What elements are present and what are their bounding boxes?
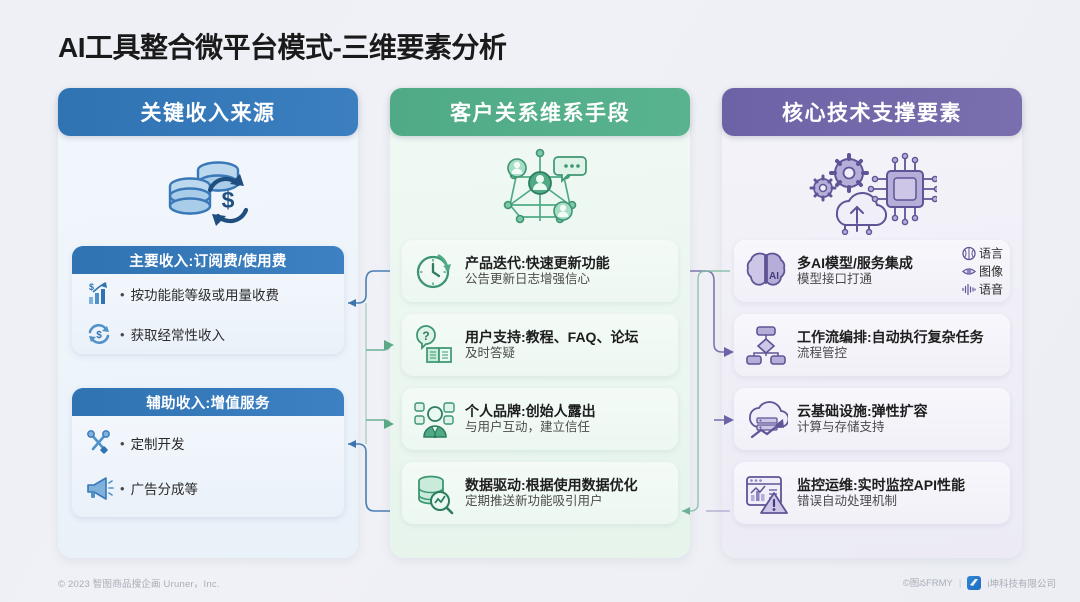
- bullet: •: [120, 287, 125, 302]
- brain-ai-icon: AI: [744, 249, 788, 293]
- brain-icon: [962, 246, 976, 260]
- item-title: 用户支持:教程、FAQ、论坛: [465, 329, 638, 346]
- waveform-icon: [962, 282, 976, 296]
- item-workflow: 工作流编排:自动执行复杂任务 流程管控: [734, 314, 1010, 376]
- item-data-driven: 数据驱动:根据使用数据优化 定期推送新功能吸引用户: [402, 462, 678, 524]
- column-header-core-tech: 核心技术支撑要素: [722, 88, 1022, 136]
- cloud-server-growth-icon: [744, 397, 788, 441]
- bullet: •: [120, 481, 125, 496]
- recurring-dollar-icon: $: [84, 319, 114, 349]
- footer-copyright: © 2023 智图商品搜企画 Uruner，Inc.: [58, 576, 220, 590]
- coins-refresh-icon: $: [58, 136, 358, 241]
- column-core-tech: 核心技术支撑要素: [722, 88, 1022, 558]
- megaphone-icon: [84, 473, 114, 503]
- footer-separator: |: [959, 578, 961, 589]
- svg-text:AI: AI: [769, 271, 779, 282]
- bar-chart-dollar-icon: $: [84, 279, 114, 309]
- item-subtitle: 错误自动处理机制: [797, 494, 965, 509]
- item-title: 监控运维:实时监控API性能: [797, 477, 965, 494]
- capability-tags: 语言 图像 语音: [962, 245, 1003, 298]
- item-subtitle: 及时答疑: [465, 346, 638, 361]
- list-item-label: 获取经常性收入: [131, 324, 226, 344]
- item-subtitle: 公告更新日志增强信心: [465, 272, 610, 287]
- column-header-revenue: 关键收入来源: [58, 88, 358, 136]
- eye-icon: [962, 264, 976, 278]
- item-personal-brand: 个人品牌:创始人露出 与用户互动，建立信任: [402, 388, 678, 450]
- person-chat-icon: [412, 397, 456, 441]
- bullet: •: [120, 436, 125, 451]
- footer-company: i坤科技有限公司: [987, 576, 1056, 590]
- item-title: 多AI模型/服务集成: [797, 255, 913, 272]
- svg-text:$: $: [222, 187, 235, 213]
- footer-branding: ©图నFRMY | i坤科技有限公司: [903, 575, 1056, 591]
- item-cloud-infra: 云基础设施:弹性扩容 计算与存储支持: [734, 388, 1010, 450]
- tag-image: 图像: [962, 263, 1003, 280]
- list-item: $ • 按功能能等级或用量收费: [72, 274, 344, 314]
- item-product-iteration: 产品迭代:快速更新功能 公告更新日志增强信心: [402, 240, 678, 302]
- page-title: AI工具整合微平台模式-三维要素分析: [58, 26, 506, 66]
- item-ai-models: AI 多AI模型/服务集成 模型接口打通 语言 图像: [734, 240, 1010, 302]
- clock-refresh-icon: [412, 249, 456, 293]
- network-people-icon: [390, 136, 690, 241]
- monitor-alert-icon: [744, 471, 788, 515]
- item-subtitle: 模型接口打通: [797, 272, 913, 287]
- item-title: 个人品牌:创始人露出: [465, 403, 596, 420]
- card-title: 主要收入:订阅费/使用费: [72, 246, 344, 274]
- card-title: 辅助收入:增值服务: [72, 388, 344, 416]
- footer-credit: ©图నFRMY: [903, 575, 953, 591]
- item-user-support: ? 用户支持:教程、FAQ、论坛 及时答疑: [402, 314, 678, 376]
- card-secondary-revenue: 辅助收入:增值服务 • 定制开发: [72, 388, 344, 517]
- svg-text:$: $: [89, 282, 94, 292]
- tag-voice: 语音: [962, 281, 1003, 298]
- tag-language: 语言: [962, 245, 1003, 262]
- column-revenue: 关键收入来源 $ 主要收入:订阅费/使用费: [58, 88, 358, 558]
- tag-label: 语言: [979, 245, 1003, 262]
- item-subtitle: 流程管控: [797, 346, 984, 361]
- list-item: • 定制开发: [72, 416, 344, 468]
- tag-label: 语音: [979, 281, 1003, 298]
- company-logo-icon: [967, 576, 981, 590]
- list-item: • 广告分成等: [72, 468, 344, 517]
- column-customer-relations: 客户关系维系手段: [390, 88, 690, 558]
- card-primary-revenue: 主要收入:订阅费/使用费 $ • 按功能能等级或用量收费: [72, 246, 344, 354]
- gears-cloud-chip-icon: [722, 136, 1022, 241]
- column-header-customer-relations: 客户关系维系手段: [390, 88, 690, 136]
- flowchart-icon: [744, 323, 788, 367]
- svg-text:$: $: [96, 330, 102, 341]
- bullet: •: [120, 327, 125, 342]
- item-title: 产品迭代:快速更新功能: [465, 255, 610, 272]
- list-item-label: 按功能能等级或用量收费: [131, 284, 280, 304]
- item-subtitle: 计算与存储支持: [797, 420, 928, 435]
- wrench-screwdriver-icon: [84, 428, 114, 458]
- item-monitoring: 监控运维:实时监控API性能 错误自动处理机制: [734, 462, 1010, 524]
- list-item-label: 定制开发: [131, 433, 185, 453]
- list-item: $ • 获取经常性收入: [72, 314, 344, 354]
- question-book-icon: ?: [412, 323, 456, 367]
- item-title: 工作流编排:自动执行复杂任务: [797, 329, 984, 346]
- svg-text:?: ?: [422, 329, 429, 343]
- item-title: 数据驱动:根据使用数据优化: [465, 477, 638, 494]
- item-subtitle: 与用户互动，建立信任: [465, 420, 596, 435]
- database-search-icon: [412, 471, 456, 515]
- item-title: 云基础设施:弹性扩容: [797, 403, 928, 420]
- tag-label: 图像: [979, 263, 1003, 280]
- item-subtitle: 定期推送新功能吸引用户: [465, 494, 638, 509]
- list-item-label: 广告分成等: [131, 478, 199, 498]
